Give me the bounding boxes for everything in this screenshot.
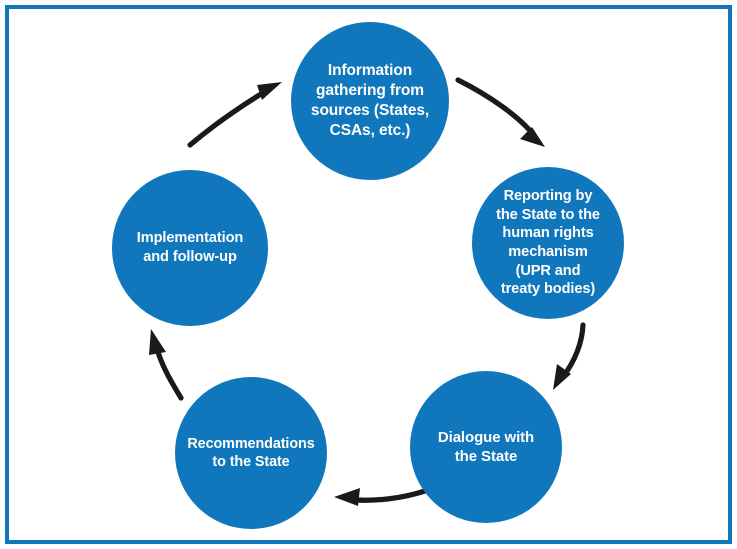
arrow-recommendations-to-implementation — [149, 329, 181, 398]
arrow-reporting-to-dialogue — [553, 325, 583, 390]
arrow-implementation-to-information — [190, 82, 282, 145]
cycle-node-dialogue[interactable]: Dialogue with the State — [410, 371, 562, 523]
cycle-node-reporting-label: Reporting by the State to the human righ… — [488, 187, 608, 299]
cycle-node-information-label: Information gathering from sources (Stat… — [303, 61, 437, 140]
cycle-node-recommendations-label: Recommendations to the State — [179, 435, 322, 472]
cycle-node-implementation[interactable]: Implementation and follow-up — [112, 170, 268, 326]
arrow-dialogue-to-recommendations — [334, 488, 425, 506]
cycle-node-information[interactable]: Information gathering from sources (Stat… — [291, 22, 449, 180]
arrow-information-to-reporting — [458, 80, 545, 147]
cycle-node-recommendations[interactable]: Recommendations to the State — [175, 377, 327, 529]
cycle-node-dialogue-label: Dialogue with the State — [430, 428, 542, 466]
diagram-canvas: Information gathering from sources (Stat… — [0, 0, 737, 549]
cycle-node-reporting[interactable]: Reporting by the State to the human righ… — [472, 167, 624, 319]
cycle-node-implementation-label: Implementation and follow-up — [129, 229, 251, 266]
